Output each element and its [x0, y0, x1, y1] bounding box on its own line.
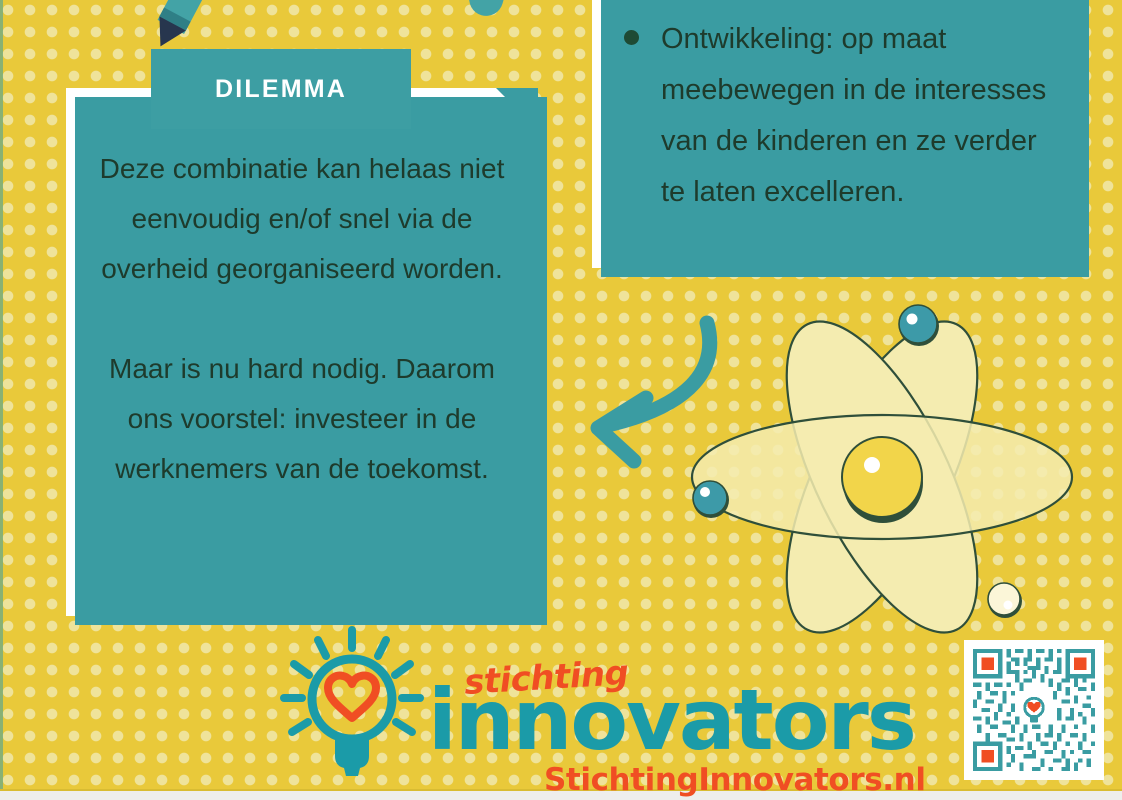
dilemma-header-banner: DILEMMA — [151, 49, 411, 129]
pencil-icon — [147, 0, 219, 53]
logo-url-text: StichtingInnovators.nl — [544, 762, 926, 798]
logo-innovators-text: innovators — [428, 678, 915, 762]
atom-nucleus-highlight — [864, 457, 880, 473]
qr-code[interactable] — [964, 640, 1104, 780]
bullet-card-text: Ontwikkeling: op maat meebewegen in de i… — [661, 14, 1066, 218]
list-item: Ontwikkeling: op maat meebewegen in de i… — [614, 14, 1066, 218]
infographic-poster: Ontwikkeling: op maat meebewegen in de i… — [0, 0, 1122, 800]
curved-arrow-icon — [556, 306, 746, 471]
dilemma-paragraph-1: Deze combinatie kan helaas niet eenvoudi… — [88, 144, 516, 294]
paragraph-spacer — [88, 294, 516, 344]
atom-electron-left — [693, 481, 729, 518]
bullet-card: Ontwikkeling: op maat meebewegen in de i… — [592, 0, 1080, 268]
dilemma-header-label: DILEMMA — [215, 75, 347, 104]
lightbulb-heart-icon — [276, 626, 428, 786]
qr-code-matrix — [973, 649, 1095, 771]
left-edge-rule — [0, 0, 3, 800]
atom-nucleus — [842, 437, 922, 517]
bullet-dot-icon — [624, 30, 639, 45]
dilemma-paragraph-2: Maar is nu hard nodig. Daarom ons voorst… — [88, 344, 516, 494]
folded-corner-decoration — [496, 88, 538, 130]
atom-electron-top — [899, 305, 939, 346]
dilemma-card: Deze combinatie kan helaas niet eenvoudi… — [66, 88, 538, 616]
brand-logo[interactable]: stichting innovators StichtingInnovators… — [276, 622, 896, 792]
dilemma-card-body: Deze combinatie kan helaas niet eenvoudi… — [66, 144, 538, 494]
teal-blob-decoration — [465, 0, 509, 20]
atom-electron-bottom-right — [988, 583, 1022, 618]
logo-wordmark: stichting innovators StichtingInnovators… — [428, 638, 898, 788]
